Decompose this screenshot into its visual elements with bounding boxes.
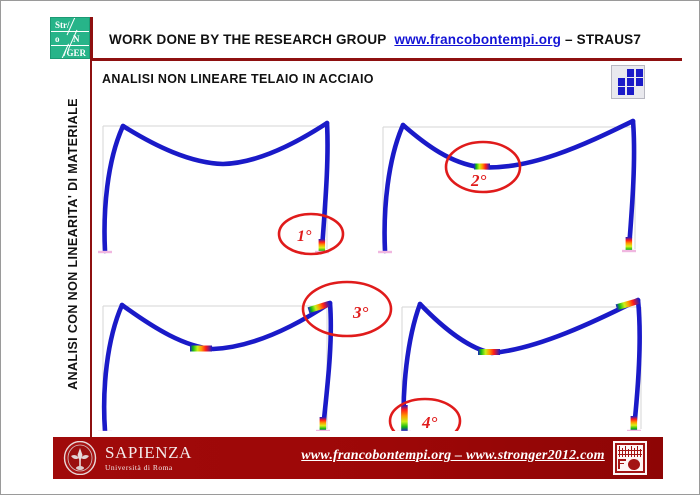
body-vertical-rule (90, 61, 92, 437)
header-title: WORK DONE BY THE RESEARCH GROUP www.fran… (109, 32, 641, 47)
stronger-logo-line2a: o (55, 35, 60, 44)
analysis-diagram-area: 1° (95, 101, 661, 431)
support-markers-2 (378, 251, 636, 252)
plastic-hinge-4a (478, 349, 500, 355)
plastic-hinge-3a (190, 346, 212, 352)
plastic-hinge-4d (401, 405, 408, 431)
header-title-prefix: WORK DONE BY THE RESEARCH GROUP (109, 32, 386, 47)
fb-logo-icon (613, 441, 647, 475)
header-link[interactable]: www.francobontempi.org (394, 32, 561, 47)
plastic-hinge-4c (631, 416, 638, 431)
sapienza-wordmark: SAPIENZA Università di Roma (105, 444, 192, 472)
slide-canvas: Str/ o N /GER WORK DONE BY THE RESEARCH … (0, 0, 700, 495)
stronger-logo-line2b: N (73, 35, 80, 44)
grid-icon-cell (627, 69, 634, 77)
grid-icon-cell (627, 87, 634, 95)
stronger-logo-line1: Str/ (55, 21, 70, 30)
grid-icon-cell (636, 69, 643, 77)
sapienza-subtitle: Università di Roma (105, 464, 192, 472)
frame-panel-3: 3° (98, 282, 391, 431)
grid-icon-cell (636, 78, 643, 86)
side-caption: ANALISI CON NON LINEARITA' DI MATERIALE (62, 79, 84, 409)
deformed-shape-1 (105, 123, 328, 251)
grid-icon-cell (618, 87, 625, 95)
grid-icon-cell (618, 78, 625, 86)
page-title: ANALISI NON LINEARE TELAIO IN ACCIAIO (102, 72, 374, 86)
plastic-hinge-2b (626, 237, 633, 252)
deformed-shape-3 (104, 303, 331, 431)
grid-icon[interactable] (611, 65, 645, 99)
header-vertical-rule (90, 17, 93, 61)
header-horizontal-rule (90, 58, 682, 61)
stronger-logo-line3: /GER (64, 49, 86, 58)
plastic-hinge-2a (474, 164, 490, 170)
annotation-label-2: 2° (470, 171, 487, 190)
footer-bar: SAPIENZA Università di Roma www.francobo… (53, 437, 663, 479)
undeformed-outline-2 (383, 127, 635, 249)
sapienza-seal-icon (63, 441, 97, 475)
annotation-label-1: 1° (297, 228, 312, 245)
annotation-label-3: 3° (352, 303, 369, 322)
annotation-label-4: 4° (421, 413, 438, 431)
header-title-suffix: – STRAUS7 (565, 32, 641, 47)
footer-link[interactable]: www.francobontempi.org – www.stronger201… (253, 448, 653, 464)
frame-panel-4: 4° (390, 298, 641, 431)
grid-icon-cell (627, 78, 634, 86)
frame-panel-1: 1° (98, 123, 343, 254)
deformed-shape-4 (404, 300, 640, 431)
stronger-logo: Str/ o N /GER (50, 17, 90, 59)
frame-panel-2: 2° (378, 121, 636, 252)
undeformed-outline-4 (402, 307, 641, 429)
plastic-hinge-3c (320, 417, 327, 431)
sapienza-name: SAPIENZA (105, 444, 192, 461)
